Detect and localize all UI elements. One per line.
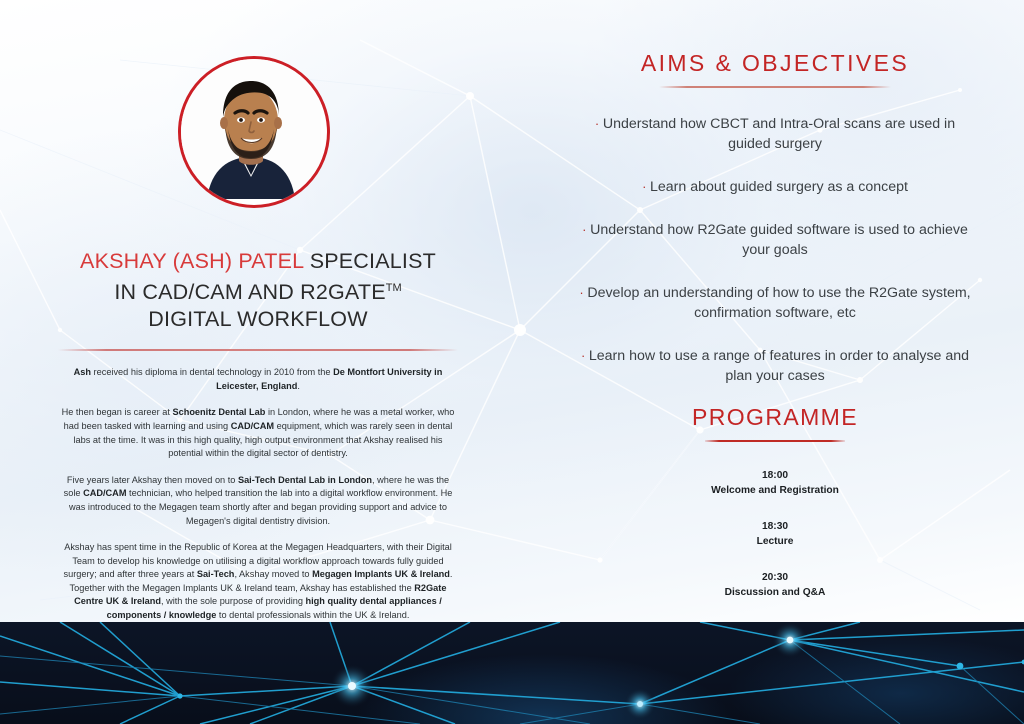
speaker-portrait (178, 56, 330, 208)
speaker-role-line1: SPECIALIST (310, 249, 436, 273)
programme-item-label: Lecture (560, 534, 990, 549)
aims-heading-rule (659, 86, 891, 88)
title-divider (58, 349, 458, 351)
programme-item-time: 18:00 (560, 468, 990, 483)
programme-list: 18:00Welcome and Registration18:30Lectur… (560, 468, 990, 600)
bullet-icon: · (642, 179, 650, 194)
aim-item-label: Understand how CBCT and Intra-Oral scans… (603, 116, 955, 152)
bullet-icon: · (581, 348, 589, 363)
aims-column: AIMS & OBJECTIVES · Understand how CBCT … (560, 50, 990, 386)
programme-item-time: 20:30 (560, 570, 990, 585)
speaker-title: AKSHAY (ASH) PATEL SPECIALIST IN CAD/CAM… (48, 248, 468, 333)
trademark-symbol: TM (386, 282, 402, 294)
aim-item: · Develop an understanding of how to use… (560, 283, 990, 323)
programme-item-label: Discussion and Q&A (560, 585, 990, 600)
biography-paragraph: Akshay has spent time in the Republic of… (58, 541, 458, 623)
biography-paragraph: Five years later Akshay then moved on to… (58, 474, 458, 528)
programme-heading: PROGRAMME (560, 404, 990, 431)
speaker-role-line2: IN CAD/CAM AND R2GATE (114, 280, 385, 304)
programme-item: 18:00Welcome and Registration (560, 468, 990, 498)
aims-heading: AIMS & OBJECTIVES (560, 50, 990, 77)
speaker-name: AKSHAY (ASH) PATEL (80, 249, 303, 273)
programme-item-time: 18:30 (560, 519, 990, 534)
speaker-biography: Ash received his diploma in dental techn… (58, 366, 458, 623)
programme-item: 18:30Lecture (560, 519, 990, 549)
biography-paragraph: Ash received his diploma in dental techn… (58, 366, 458, 393)
aim-item: · Understand how R2Gate guided software … (560, 220, 990, 260)
aim-item-label: Develop an understanding of how to use t… (587, 285, 970, 321)
flyer-page: AKSHAY (ASH) PATEL SPECIALIST IN CAD/CAM… (0, 0, 1024, 724)
bullet-icon: · (582, 222, 590, 237)
aim-item: · Learn about guided surgery as a concep… (560, 177, 990, 197)
footer-network-band (0, 622, 1024, 724)
speaker-column: AKSHAY (ASH) PATEL SPECIALIST IN CAD/CAM… (48, 248, 468, 623)
aim-item: · Understand how CBCT and Intra-Oral sca… (560, 114, 990, 154)
aim-item: · Learn how to use a range of features i… (560, 346, 990, 386)
speaker-role-line3: DIGITAL WORKFLOW (148, 307, 367, 331)
portrait-illustration (181, 59, 321, 199)
aims-list: · Understand how CBCT and Intra-Oral sca… (560, 114, 990, 386)
biography-paragraph: He then began is career at Schoenitz Den… (58, 406, 458, 460)
aim-item-label: Learn about guided surgery as a concept (650, 179, 908, 195)
programme-item-label: Welcome and Registration (560, 483, 990, 498)
programme-heading-rule (705, 440, 845, 442)
footer-network-graphic (0, 622, 1024, 724)
bullet-icon: · (595, 116, 603, 131)
programme-item: 20:30Discussion and Q&A (560, 570, 990, 600)
aim-item-label: Learn how to use a range of features in … (589, 348, 969, 384)
aim-item-label: Understand how R2Gate guided software is… (590, 222, 968, 258)
programme-column: PROGRAMME 18:00Welcome and Registration1… (560, 404, 990, 600)
